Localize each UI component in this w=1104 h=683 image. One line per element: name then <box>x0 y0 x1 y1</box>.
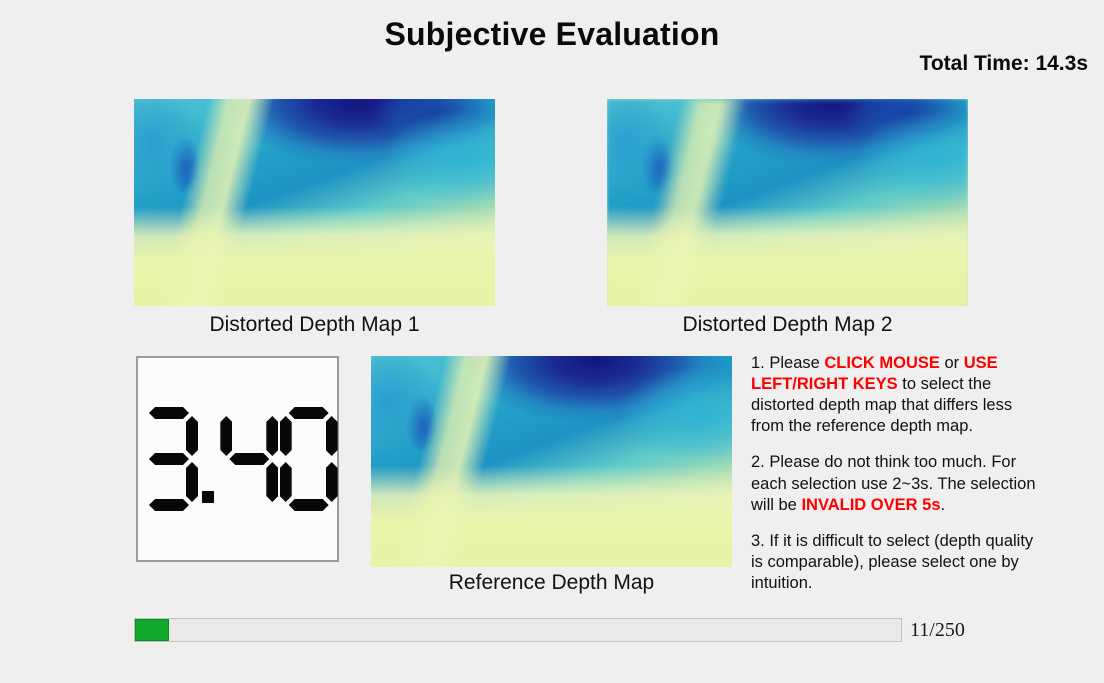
progress-count-label: 11/250 <box>910 619 965 642</box>
instruction-item-3: 3. If it is difficult to select (depth q… <box>751 531 1043 594</box>
countdown-display-panel: 3.40 <box>136 356 339 562</box>
instruction-item-2: 2. Please do not think too much. For eac… <box>751 452 1043 515</box>
instruction-item-1: 1. Please CLICK MOUSE or USE LEFT/RIGHT … <box>751 353 1043 437</box>
reference-depth-map <box>371 356 732 567</box>
instruction-1-mid: or <box>940 354 964 372</box>
reference-depth-map-caption: Reference Depth Map <box>371 571 732 595</box>
distorted-depth-map-2[interactable] <box>607 99 968 306</box>
distorted-depth-map-1[interactable] <box>134 99 495 306</box>
instruction-1-prefix: 1. Please <box>751 354 824 372</box>
instruction-1-highlight-1: CLICK MOUSE <box>824 354 940 372</box>
page-title: Subjective Evaluation <box>0 16 1104 53</box>
depth-near-streak <box>134 99 495 306</box>
seven-segment-digit <box>280 407 335 511</box>
total-time-label: Total Time: 14.3s <box>920 52 1088 76</box>
progress-bar-track <box>134 618 902 642</box>
seven-segment-decimal-point <box>197 407 218 511</box>
progress-row: 11/250 <box>134 618 974 644</box>
distorted-depth-map-2-caption: Distorted Depth Map 2 <box>607 313 968 337</box>
depth-near-streak <box>371 356 732 567</box>
progress-bar-fill <box>135 619 169 641</box>
seven-segment-readout <box>138 407 337 511</box>
distorted-depth-map-1-caption: Distorted Depth Map 1 <box>134 313 495 337</box>
instructions-panel: 1. Please CLICK MOUSE or USE LEFT/RIGHT … <box>751 353 1043 594</box>
seven-segment-digit <box>140 407 195 511</box>
depth-near-streak <box>607 99 968 306</box>
instruction-2-highlight: INVALID OVER 5s <box>801 496 940 514</box>
seven-segment-digit <box>220 407 275 511</box>
instruction-2-suffix: . <box>941 496 946 514</box>
